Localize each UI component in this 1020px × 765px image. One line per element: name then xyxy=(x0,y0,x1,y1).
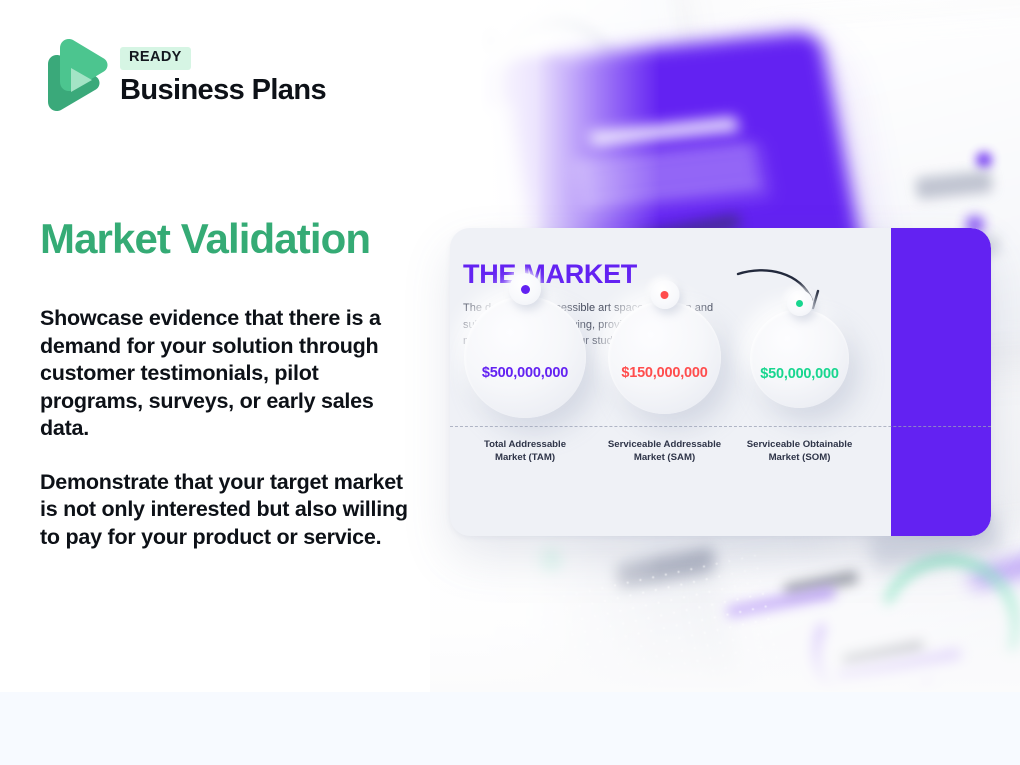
brand-text-block: READY Business Plans xyxy=(120,47,326,107)
metric-label-line1: Serviceable Addressable xyxy=(608,439,721,450)
brand-lockup: READY Business Plans xyxy=(40,38,326,116)
page-title: Market Validation xyxy=(40,215,370,262)
bottom-band xyxy=(0,692,1020,765)
slide-canvas: READY Business Plans Market Validation S… xyxy=(0,0,1020,765)
metric-som[interactable]: $50,000,000 Serviceable Obtainable Marke… xyxy=(750,290,849,408)
blurred-purple-dot-1 xyxy=(976,152,992,168)
body-paragraph-1: Showcase evidence that there is a demand… xyxy=(40,305,418,443)
photo-bottom-fade xyxy=(430,542,1020,692)
metric-label: Serviceable Obtainable Market (SOM) xyxy=(747,438,853,465)
body-paragraph-2: Demonstrate that your target market is n… xyxy=(40,469,418,552)
metric-label: Serviceable Addressable Market (SAM) xyxy=(608,438,721,465)
metric-value: $150,000,000 xyxy=(608,365,721,381)
metric-orb xyxy=(464,296,586,418)
metric-sam[interactable]: $150,000,000 Serviceable Addressable Mar… xyxy=(608,280,721,414)
metric-dot xyxy=(661,291,669,299)
metric-label-line2: Market (TAM) xyxy=(495,452,555,463)
metric-orb xyxy=(608,301,721,414)
market-slide-card[interactable]: THE MARKET The demand for accessible art… xyxy=(450,228,991,536)
metric-value: $500,000,000 xyxy=(464,365,586,381)
metric-label-line1: Total Addressable xyxy=(484,439,566,450)
body-copy: Showcase evidence that there is a demand… xyxy=(40,305,418,551)
metric-dot xyxy=(796,300,803,307)
double-play-triangle-logo-icon xyxy=(40,38,108,116)
metric-label-line2: Market (SAM) xyxy=(634,452,695,463)
metrics-row: $500,000,000 Total Addressable Market (T… xyxy=(450,228,991,536)
metric-label: Total Addressable Market (TAM) xyxy=(484,438,566,465)
ready-badge: READY xyxy=(120,47,191,70)
metric-value: $50,000,000 xyxy=(750,366,849,382)
brand-name: Business Plans xyxy=(120,74,326,107)
metric-label-line1: Serviceable Obtainable xyxy=(747,439,853,450)
metric-tam[interactable]: $500,000,000 Total Addressable Market (T… xyxy=(464,273,586,418)
metric-dot-red-icon xyxy=(650,280,679,309)
metric-dot xyxy=(521,285,530,294)
metric-dot-green-icon xyxy=(787,290,813,316)
left-content-column: READY Business Plans Market Validation S… xyxy=(0,0,440,692)
metric-orb xyxy=(750,309,849,408)
metric-label-line2: Market (SOM) xyxy=(769,452,831,463)
metric-dot-purple-icon xyxy=(509,273,541,305)
